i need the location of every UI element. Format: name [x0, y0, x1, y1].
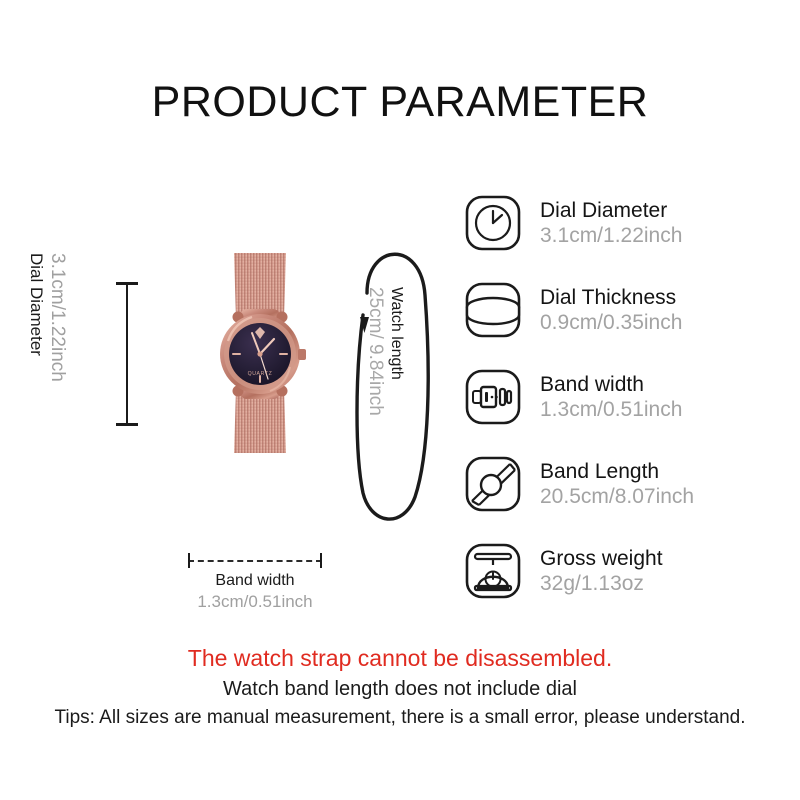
- watch-band-icon: [462, 453, 524, 515]
- vertical-dimension-line-icon: [126, 283, 128, 425]
- spec-list: Dial Diameter 3.1cm/1.22inch Dial Thickn…: [462, 188, 762, 623]
- dimension-cap-bottom-icon: [116, 423, 138, 426]
- strap-buckle-icon: [462, 366, 524, 428]
- dimension-cap-top-icon: [116, 282, 138, 285]
- dimension-cap-right-icon: [320, 553, 322, 568]
- spec-label: Dial Thickness: [540, 286, 682, 310]
- spec-text-band-length: Band Length 20.5cm/8.07inch: [540, 460, 694, 508]
- left-dimension-value: 3.1cm/1.22inch: [46, 253, 68, 382]
- left-dimension-label: Dial Diameter: [26, 253, 46, 356]
- spec-label: Dial Diameter: [540, 199, 682, 223]
- footer-note: Watch band length does not include dial: [0, 674, 800, 704]
- weighing-scale-icon: [462, 540, 524, 602]
- spec-row-dial-diameter: Dial Diameter 3.1cm/1.22inch: [462, 188, 762, 258]
- page-title: PRODUCT PARAMETER: [0, 78, 800, 127]
- footer-warning: The watch strap cannot be disassembled.: [0, 643, 800, 674]
- spec-text-gross-weight: Gross weight 32g/1.13oz: [540, 547, 663, 595]
- spec-row-band-length: Band Length 20.5cm/8.07inch: [462, 449, 762, 519]
- spec-label: Band width: [540, 373, 682, 397]
- spec-row-gross-weight: Gross weight 32g/1.13oz: [462, 536, 762, 606]
- spec-row-dial-thickness: Dial Thickness 0.9cm/0.35inch: [462, 275, 762, 345]
- spec-text-dial-diameter: Dial Diameter 3.1cm/1.22inch: [540, 199, 682, 247]
- disc-thickness-icon: [462, 279, 524, 341]
- spec-value: 1.3cm/0.51inch: [540, 398, 682, 422]
- spec-label: Gross weight: [540, 547, 663, 571]
- product-parameter-page: PRODUCT PARAMETER Dial Diameter 3.1cm/1.…: [0, 0, 800, 800]
- spec-label: Band Length: [540, 460, 694, 484]
- band-width-dimension-label: Band width: [160, 572, 350, 590]
- wristwatch-photo: QUARTZ: [200, 253, 320, 453]
- band-width-dimension-value: 1.3cm/0.51inch: [160, 592, 350, 612]
- spec-row-band-width: Band width 1.3cm/0.51inch: [462, 362, 762, 432]
- svg-text:QUARTZ: QUARTZ: [248, 371, 273, 377]
- spec-value: 3.1cm/1.22inch: [540, 224, 682, 248]
- spec-text-dial-thickness: Dial Thickness 0.9cm/0.35inch: [540, 286, 682, 334]
- spec-value: 0.9cm/0.35inch: [540, 311, 682, 335]
- footer-notes: The watch strap cannot be disassembled. …: [0, 643, 800, 733]
- dimension-cap-left-icon: [188, 553, 190, 568]
- watch-length-value: 25cm/ 9.84inch: [364, 287, 386, 416]
- watch-length-label: Watch length: [387, 287, 405, 380]
- spec-text-band-width: Band width 1.3cm/0.51inch: [540, 373, 682, 421]
- horizontal-dashed-dimension-icon: [188, 560, 322, 562]
- spec-value: 32g/1.13oz: [540, 572, 663, 596]
- watch-dial-icon: [462, 192, 524, 254]
- spec-value: 20.5cm/8.07inch: [540, 485, 694, 509]
- footer-tips: Tips: All sizes are manual measurement, …: [0, 704, 800, 733]
